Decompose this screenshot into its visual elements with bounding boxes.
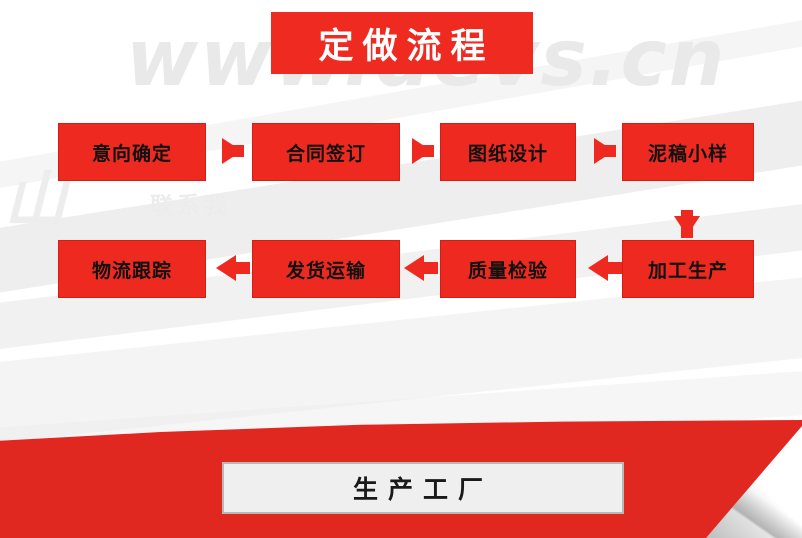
flow-node-label: 图纸设计 — [468, 139, 548, 166]
flow-node-claymodel[interactable]: 泥稿小样 — [622, 123, 754, 181]
flow-node-label: 发货运输 — [286, 256, 366, 283]
arrow-inspection-to-shipping-icon — [404, 255, 424, 281]
page-title: 定做流程 — [271, 12, 533, 74]
flow-node-tracking[interactable]: 物流跟踪 — [58, 240, 206, 298]
flow-node-label: 物流跟踪 — [92, 256, 172, 283]
footer-label: 生产工厂 — [353, 470, 493, 506]
flow-node-production[interactable]: 加工生产 — [622, 240, 754, 298]
flow-node-intent[interactable]: 意向确定 — [58, 123, 206, 181]
flow-node-drawing[interactable]: 图纸设计 — [440, 123, 576, 181]
flow-node-contract[interactable]: 合同签订 — [252, 123, 400, 181]
flow-node-label: 合同签订 — [286, 139, 366, 166]
flow-node-shipping[interactable]: 发货运输 — [252, 240, 400, 298]
arrow-shipping-to-tracking-icon — [216, 255, 236, 281]
arrow-contract-to-drawing-icon — [412, 138, 432, 164]
arrow-intent-to-contract-icon — [222, 138, 242, 164]
page-title-label: 定做流程 — [309, 18, 494, 69]
slide-canvas: 山 www.devs.cn 联系我 定做流程 意向确定 合同签订 图纸设计 泥稿… — [0, 0, 802, 538]
arrow-production-to-inspection-icon — [588, 255, 608, 281]
flow-node-label: 泥稿小样 — [648, 139, 728, 166]
arrow-drawing-to-claymodel-icon — [594, 138, 614, 164]
flow-node-label: 意向确定 — [92, 139, 172, 166]
flow-node-inspection[interactable]: 质量检验 — [440, 240, 576, 298]
flow-node-label: 质量检验 — [468, 256, 548, 283]
footer-plate: 生产工厂 — [222, 462, 624, 514]
arrow-claymodel-to-production-icon — [674, 216, 700, 236]
flow-node-label: 加工生产 — [648, 256, 728, 283]
